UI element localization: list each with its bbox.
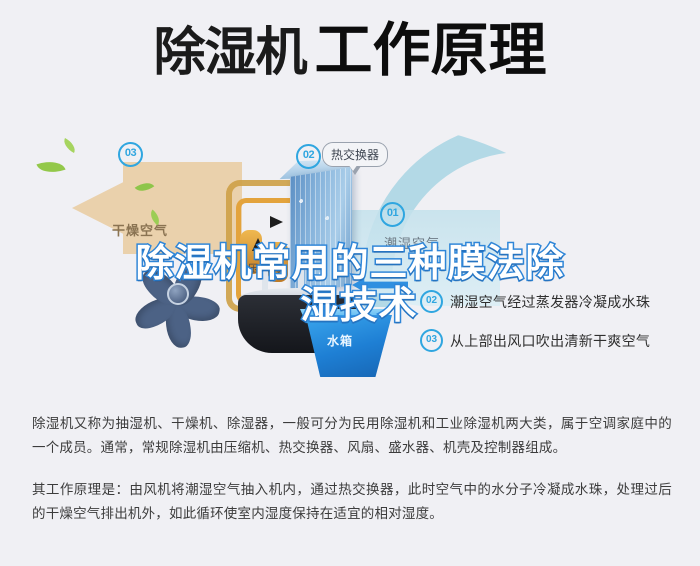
- dry-air-arrow-icon: [72, 162, 242, 254]
- paragraph-2: 其工作原理是：由风机将潮湿空气抽入机内，通过热交换器，此时空气中的水分子冷凝成水…: [32, 478, 672, 526]
- page-title: 除湿机工作原理: [0, 22, 700, 80]
- leaf-icon: [36, 156, 65, 177]
- water-tank-label: 水箱: [327, 332, 353, 349]
- list-item: 02 潮湿空气经过蒸发器冷凝成水珠: [420, 290, 690, 313]
- page-title-part1: 除湿机: [153, 24, 306, 82]
- arrow-right-icon: [270, 216, 283, 228]
- badge-02-heat-exchanger: 02: [296, 144, 321, 169]
- badge-03-step: 03: [420, 329, 443, 352]
- infographic-page: 除湿机工作原理 干燥空气 03 压缩机: [0, 0, 700, 566]
- step-text: 潮湿空气经过蒸发器冷凝成水珠: [450, 292, 650, 312]
- page-title-part2: 工作原理: [315, 18, 547, 83]
- step-text: 从上部出风口吹出清新干爽空气: [450, 331, 650, 351]
- arrow-up-icon: [252, 238, 264, 251]
- paragraph-1: 除湿机又称为抽湿机、干燥机、除湿器，一般可分为民用除湿机和工业除湿机两大类，属于…: [32, 412, 672, 460]
- dry-air-label: 干燥空气: [112, 220, 168, 239]
- humid-air-label: 潮湿空气: [384, 233, 440, 252]
- article-body: 除湿机又称为抽湿机、干燥机、除湿器，一般可分为民用除湿机和工业除湿机两大类，属于…: [32, 412, 672, 526]
- badge-02-step: 02: [420, 290, 443, 313]
- leaf-icon: [61, 138, 78, 153]
- step-list: 02 潮湿空气经过蒸发器冷凝成水珠 03 从上部出风口吹出清新干爽空气: [420, 290, 690, 368]
- callout-tail: [348, 164, 358, 171]
- list-item: 03 从上部出风口吹出清新干爽空气: [420, 329, 690, 352]
- badge-03-dry-air: 03: [118, 142, 143, 167]
- badge-01-humid-air: 01: [380, 202, 405, 227]
